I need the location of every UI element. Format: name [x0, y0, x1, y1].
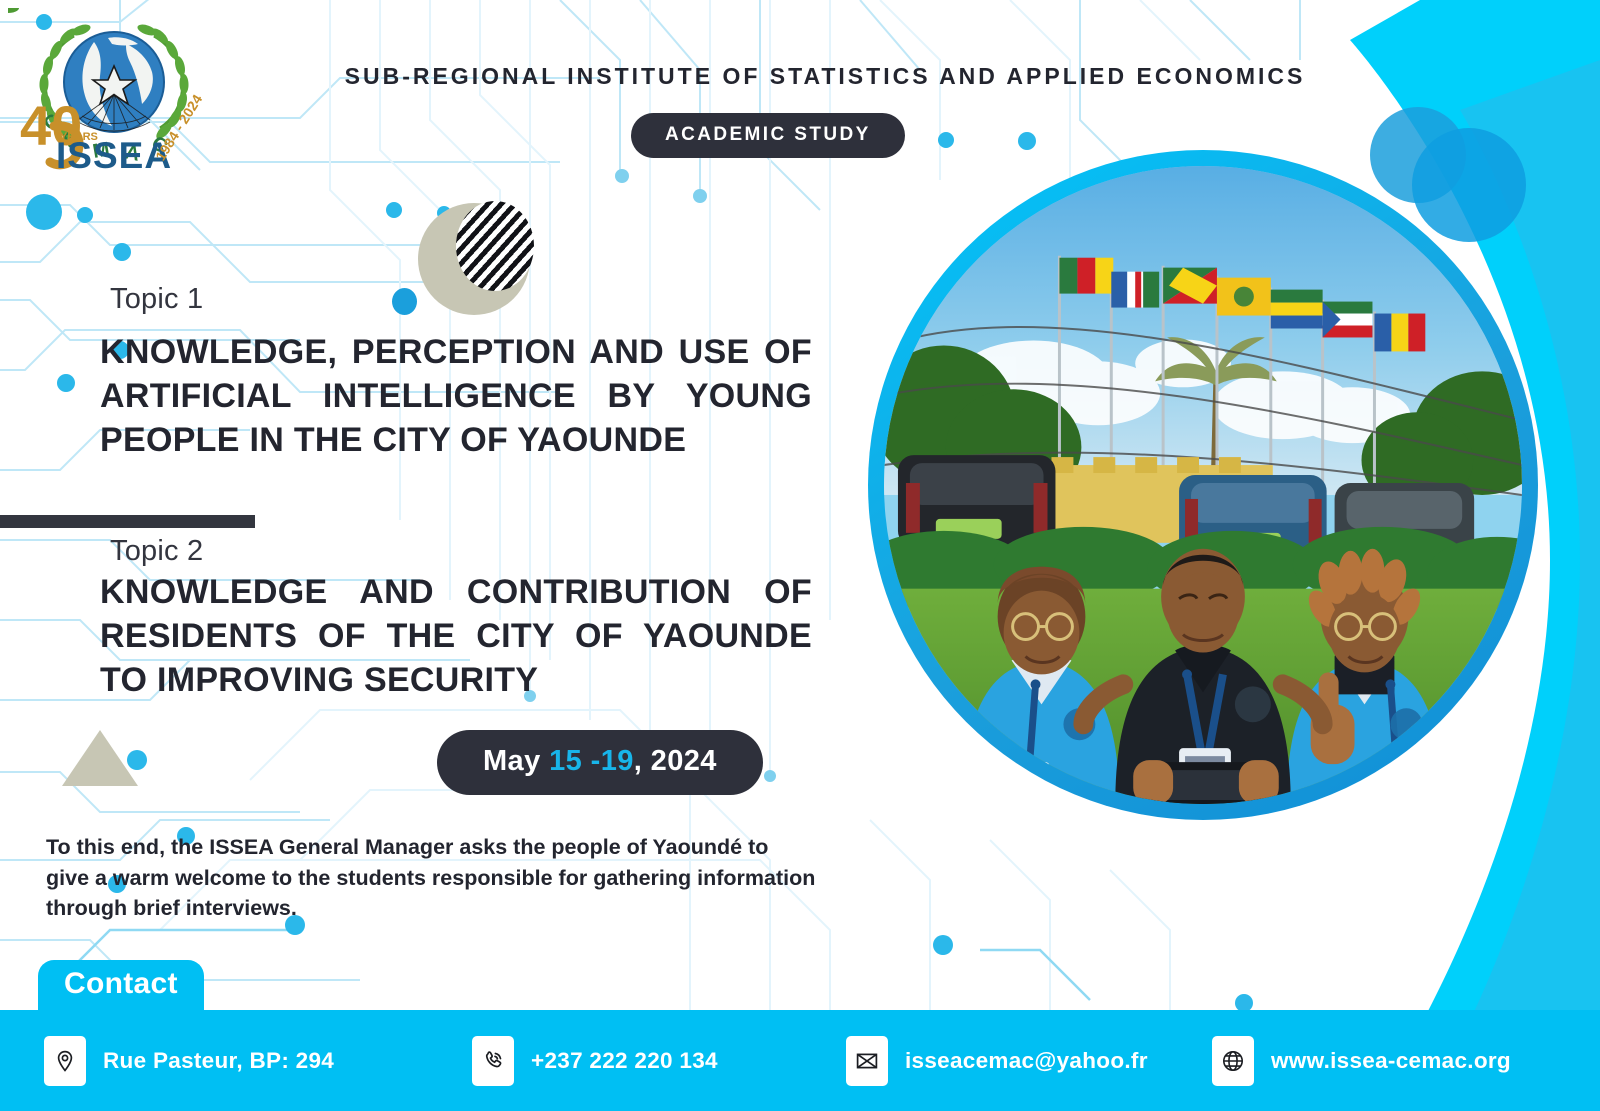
topic-1-label: Topic 1: [110, 283, 203, 316]
topic-2-title: KNOWLEDGE AND CONTRIBUTION OF RESIDENTS …: [100, 570, 812, 703]
envelope-icon: [846, 1036, 888, 1086]
khaki-triangle-decoration: [62, 730, 138, 786]
institute-title: SUB-REGIONAL INSTITUTE OF STATISTICS AND…: [270, 63, 1380, 90]
striped-circle-decoration: [456, 201, 534, 291]
welcome-note-text: To this end, the ISSEA General Manager a…: [46, 832, 816, 924]
topic-2-label: Topic 2: [110, 535, 203, 568]
date-separator: -: [591, 745, 601, 777]
date-day-end: 19: [601, 745, 634, 777]
date-day-start: 15: [549, 745, 582, 777]
photo-circle-frame: [868, 150, 1538, 820]
khaki-circle-decoration: [418, 203, 530, 315]
topic-1-title: KNOWLEDGE, PERCEPTION AND USE OF ARTIFIC…: [100, 330, 812, 463]
date-year: , 2024: [634, 745, 717, 777]
globe-icon: [1212, 1036, 1254, 1086]
students-survey-photo: [884, 166, 1522, 804]
contact-address[interactable]: Rue Pasteur, BP: 294: [44, 1036, 334, 1086]
poster-canvas: C E M A C 40 YEARS ISSEA 1984 - 2024 SUB…: [0, 0, 1600, 1111]
cemac-issea-logo: C E M A C 40 YEARS ISSEA 1984 - 2024: [8, 8, 223, 178]
contact-email-text: isseacemac@yahoo.fr: [905, 1048, 1148, 1074]
date-month: May: [483, 745, 541, 777]
academic-study-badge: ACADEMIC STUDY: [631, 113, 905, 158]
contact-email[interactable]: isseacemac@yahoo.fr: [846, 1036, 1148, 1086]
contact-label: Contact: [38, 960, 204, 1010]
contact-website[interactable]: www.issea-cemac.org: [1212, 1036, 1511, 1086]
contact-phone[interactable]: +237 222 220 134: [472, 1036, 718, 1086]
contact-footer-bar: Rue Pasteur, BP: 294 +237 222 220 134: [0, 1010, 1600, 1111]
contact-phone-text: +237 222 220 134: [531, 1048, 718, 1074]
topic-divider-bar: [0, 515, 255, 528]
contact-address-text: Rue Pasteur, BP: 294: [103, 1048, 334, 1074]
study-date-badge: May 15 -19, 2024: [437, 730, 763, 795]
location-pin-icon: [44, 1036, 86, 1086]
phone-icon: [472, 1036, 514, 1086]
blue-dot-decoration: [392, 288, 417, 315]
contact-website-text: www.issea-cemac.org: [1271, 1048, 1511, 1074]
